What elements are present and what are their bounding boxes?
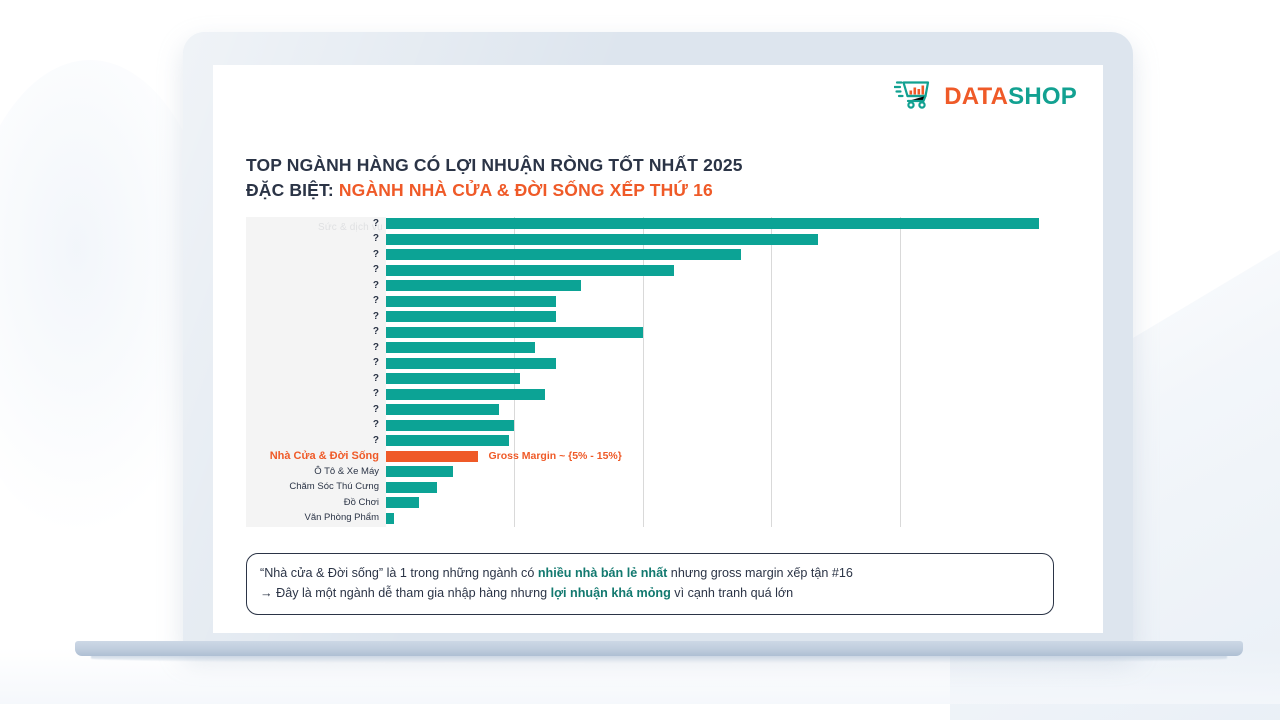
bar-track xyxy=(386,482,1054,493)
bar-highlighted xyxy=(386,451,478,462)
bar xyxy=(386,311,556,322)
brand-word-shop: SHOP xyxy=(1008,83,1077,110)
bar-track xyxy=(386,373,1054,384)
bar xyxy=(386,389,545,400)
bar-track: Gross Margin ~ {5% - 15%} xyxy=(386,451,1054,462)
caption-line-2: → Đây là một ngành dễ tham gia nhập hàng… xyxy=(260,583,1040,603)
bar-track xyxy=(386,513,1054,524)
bar xyxy=(386,466,453,477)
chart-row: ? xyxy=(246,389,1054,400)
bar-track xyxy=(386,389,1054,400)
category-label: ? xyxy=(246,374,386,384)
bar xyxy=(386,265,674,276)
chart-row: ? xyxy=(246,218,1054,229)
category-label: ? xyxy=(246,234,386,244)
bar xyxy=(386,497,419,508)
laptop-base xyxy=(75,641,1243,656)
chart-row: Chăm Sóc Thú Cưng xyxy=(246,482,1054,493)
category-label: Văn Phòng Phẩm xyxy=(246,513,386,523)
bar-track xyxy=(386,466,1054,477)
bar xyxy=(386,296,556,307)
caption-line-1: “Nhà cửa & Đời sống” là 1 trong những ng… xyxy=(260,563,1040,583)
bar xyxy=(386,249,741,260)
category-label: Ô Tô & Xe Máy xyxy=(246,467,386,477)
laptop-screen: DATASHOP TOP NGÀNH HÀNG CÓ LỢI NHUẬN RÒN… xyxy=(213,65,1103,633)
category-label: ? xyxy=(246,358,386,368)
bar-track xyxy=(386,358,1054,369)
insight-callout-box: “Nhà cửa & Đời sống” là 1 trong những ng… xyxy=(246,553,1054,615)
category-label-highlighted: Nhà Cửa & Đời Sống xyxy=(246,451,386,462)
category-label: Đồ Chơi xyxy=(246,498,386,508)
title-line-2-highlight: NGÀNH NHÀ CỬA & ĐỜI SỐNG XẾP THỨ 16 xyxy=(339,180,713,200)
category-label: ? xyxy=(246,250,386,260)
bar xyxy=(386,373,520,384)
chart-row: Văn Phòng Phẩm xyxy=(246,513,1054,524)
category-label: ? xyxy=(246,420,386,430)
chart-row: ? xyxy=(246,404,1054,415)
bar xyxy=(386,327,643,338)
caption-line-1-c: nhưng gross margin xếp tận #16 xyxy=(667,566,853,580)
title-line-1: TOP NGÀNH HÀNG CÓ LỢI NHUẬN RÒNG TỐT NHẤ… xyxy=(246,153,743,178)
bar xyxy=(386,513,394,524)
category-label: ? xyxy=(246,327,386,337)
category-label: ? xyxy=(246,312,386,322)
chart-row: ? xyxy=(246,234,1054,245)
caption-line-2-c: vì cạnh tranh quá lớn xyxy=(671,586,793,600)
page-title: TOP NGÀNH HÀNG CÓ LỢI NHUẬN RÒNG TỐT NHẤ… xyxy=(246,153,743,203)
bar-track xyxy=(386,342,1054,353)
bar-track xyxy=(386,249,1054,260)
category-label: ? xyxy=(246,405,386,415)
bar-track xyxy=(386,435,1054,446)
bar xyxy=(386,234,818,245)
title-line-2: ĐẶC BIỆT: NGÀNH NHÀ CỬA & ĐỜI SỐNG XẾP T… xyxy=(246,178,743,203)
title-line-2-prefix: ĐẶC BIỆT: xyxy=(246,180,339,200)
bar-track xyxy=(386,265,1054,276)
category-label: ? xyxy=(246,219,386,229)
bar xyxy=(386,420,514,431)
caption-line-2-highlight: lợi nhuận khá mỏng xyxy=(551,586,671,600)
slide-content: DATASHOP TOP NGÀNH HÀNG CÓ LỢI NHUẬN RÒN… xyxy=(213,65,1103,633)
bar xyxy=(386,482,437,493)
chart-row: ? xyxy=(246,280,1054,291)
brand-word-data: DATA xyxy=(944,83,1008,110)
category-label: ? xyxy=(246,389,386,399)
bar-track xyxy=(386,327,1054,338)
bar-track xyxy=(386,420,1054,431)
laptop-mockup: DATASHOP TOP NGÀNH HÀNG CÓ LỢI NHUẬN RÒN… xyxy=(183,32,1133,672)
bar xyxy=(386,435,509,446)
bar-track xyxy=(386,218,1054,229)
chart-row: ? xyxy=(246,373,1054,384)
bar xyxy=(386,342,535,353)
bar xyxy=(386,358,556,369)
bar-track xyxy=(386,311,1054,322)
chart-row: ? xyxy=(246,327,1054,338)
chart-row: ? xyxy=(246,265,1054,276)
brand-logo: DATASHOP xyxy=(894,78,1077,115)
bar-track xyxy=(386,296,1054,307)
chart-bar-rows: ???????????????Nhà Cửa & Đời SốngGross M… xyxy=(246,217,1054,527)
chart-row: ? xyxy=(246,249,1054,260)
category-label: ? xyxy=(246,343,386,353)
bar xyxy=(386,280,581,291)
bar-chart: Sức & dịch vụ ???????????????Nhà Cửa & Đ… xyxy=(246,217,1054,527)
brand-wordmark: DATASHOP xyxy=(944,85,1077,109)
category-label: ? xyxy=(246,265,386,275)
chart-row: ? xyxy=(246,311,1054,322)
bar-track xyxy=(386,497,1054,508)
chart-row: ? xyxy=(246,420,1054,431)
chart-row: ? xyxy=(246,342,1054,353)
category-label: Chăm Sóc Thú Cưng xyxy=(246,482,386,492)
category-label: ? xyxy=(246,296,386,306)
chart-row: Nhà Cửa & Đời SốngGross Margin ~ {5% - 1… xyxy=(246,451,1054,462)
bar-track xyxy=(386,280,1054,291)
shopping-cart-chart-icon xyxy=(894,78,936,115)
chart-row: ? xyxy=(246,358,1054,369)
chart-row: ? xyxy=(246,296,1054,307)
bar xyxy=(386,404,499,415)
caption-line-2-a: → Đây là một ngành dễ tham gia nhập hàng… xyxy=(260,586,551,600)
chart-row: Đồ Chơi xyxy=(246,497,1054,508)
chart-row: ? xyxy=(246,435,1054,446)
bar-track xyxy=(386,404,1054,415)
bar-annotation: Gross Margin ~ {5% - 15%} xyxy=(488,450,621,462)
chart-row: Ô Tô & Xe Máy xyxy=(246,466,1054,477)
bar xyxy=(386,218,1039,229)
caption-line-1-a: “Nhà cửa & Đời sống” là 1 trong những ng… xyxy=(260,566,538,580)
category-label: ? xyxy=(246,281,386,291)
caption-line-1-highlight: nhiều nhà bán lẻ nhất xyxy=(538,566,667,580)
bar-track xyxy=(386,234,1054,245)
category-label: ? xyxy=(246,436,386,446)
